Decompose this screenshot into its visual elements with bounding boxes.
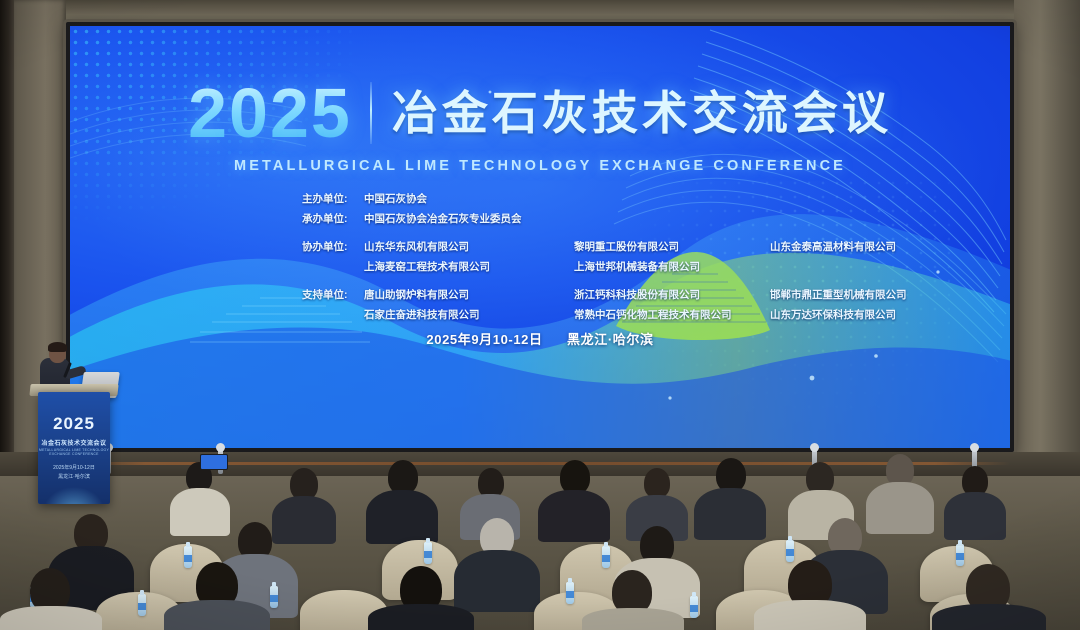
bottle-label [786,549,794,556]
conference-title-en: METALLURGICAL LIME TECHNOLOGY EXCHANGE C… [70,158,1010,174]
conference-title-cn: 冶金石灰技术交流会议 [392,90,892,136]
audience-head [716,458,746,492]
audience-shoulders [694,488,766,540]
bottle-label [184,555,192,562]
speaker-hair [48,342,67,352]
audience-shoulders [944,492,1006,540]
water-bottle [690,596,698,618]
audience [0,440,1080,630]
organizer-row: 承办单位: 中国石灰协会冶金石灰专业委员会 [302,209,942,229]
audience-shoulders [0,606,102,630]
wall-trim-top [0,0,1080,14]
organizer-row: 协办单位: 山东华东风机有限公司 黎明重工股份有限公司 山东金泰高温材料有限公司 [302,237,942,257]
organizer-label: 支持单位: [302,285,364,305]
bottle-label [424,551,432,558]
screen-title-block: 2025 冶金石灰技术交流会议 METALLURGICAL LIME TECHN… [70,78,1010,174]
bottle-label [690,605,698,612]
audience-shoulders [538,490,610,542]
event-date: 2025年9月10-12日 [426,332,542,347]
audience-head [560,460,590,494]
organizer-name-empty [770,257,942,277]
organizer-name: 邯郸市鼎正重型机械有限公司 [770,285,942,305]
audience-head [644,468,670,498]
water-bottle [270,586,278,608]
organizer-list: 主办单位: 中国石灰协会 承办单位: 中国石灰协会冶金石灰专业委员会 协办单位:… [302,189,942,326]
smartphone [200,454,228,470]
water-bottle [138,594,146,616]
organizer-name: 上海麦窑工程技术有限公司 [364,257,574,277]
bottle-label [566,591,574,598]
water-bottle [424,542,432,564]
organizer-name: 常熟中石钙化物工程技术有限公司 [574,305,770,325]
organizer-name: 中国石灰协会 [364,189,574,209]
water-bottle [566,582,574,604]
audience-shoulders [272,496,336,544]
organizer-label: 承办单位: [302,209,364,229]
title-divider [370,82,372,144]
audience-shoulders [582,608,684,630]
podium-year: 2025 [38,414,110,434]
led-screen: 2025 冶金石灰技术交流会议 METALLURGICAL LIME TECHN… [70,26,1010,448]
organizer-name: 山东金泰高温材料有限公司 [770,237,942,257]
organizer-name: 山东万达环保科技有限公司 [770,305,942,325]
organizer-name: 上海世邦机械装备有限公司 [574,257,770,277]
organizer-row: 石家庄奋进科技有限公司 常熟中石钙化物工程技术有限公司 山东万达环保科技有限公司 [302,305,942,325]
organizer-name: 山东华东风机有限公司 [364,237,574,257]
water-bottle [602,546,610,568]
spacer [302,278,942,285]
organizer-name: 黎明重工股份有限公司 [574,237,770,257]
audience-shoulders [932,604,1046,630]
spacer [302,230,942,237]
audience-shoulders [454,550,540,612]
event-date-location: 2025年9月10-12日 黑龙江·哈尔滨 [70,329,1010,348]
bottle-label [138,603,146,610]
water-bottle [184,546,192,568]
organizer-name: 唐山助钢炉料有限公司 [364,285,574,305]
organizer-label: 协办单位: [302,237,364,257]
audience-shoulders [164,600,270,630]
event-location: 黑龙江·哈尔滨 [567,332,654,347]
wall-panel-right [1014,0,1080,470]
audience-shoulders [366,490,438,544]
water-bottle [786,540,794,562]
organizer-name: 浙江钙科科技股份有限公司 [574,285,770,305]
organizer-row: 上海麦窑工程技术有限公司 上海世邦机械装备有限公司 [302,257,942,277]
organizer-name: 石家庄奋进科技有限公司 [364,305,574,325]
organizer-row: 支持单位: 唐山助钢炉料有限公司 浙江钙科科技股份有限公司 邯郸市鼎正重型机械有… [302,285,942,305]
audience-shoulders [170,488,230,536]
organizer-name: 中国石灰协会冶金石灰专业委员会 [364,209,574,229]
audience-shoulders [368,604,474,630]
bottle-label [956,553,964,560]
conference-year: 2025 [188,78,370,148]
bottle-label [602,555,610,562]
organizer-label: 主办单位: [302,189,364,209]
audience-shoulders [754,600,866,630]
bottle-label [270,595,278,602]
audience-head [388,460,418,494]
organizer-row: 主办单位: 中国石灰协会 [302,189,942,209]
audience-shoulders [866,482,934,534]
conference-photo: 2025 冶金石灰技术交流会议 METALLURGICAL LIME TECHN… [0,0,1080,630]
water-bottle [956,544,964,566]
